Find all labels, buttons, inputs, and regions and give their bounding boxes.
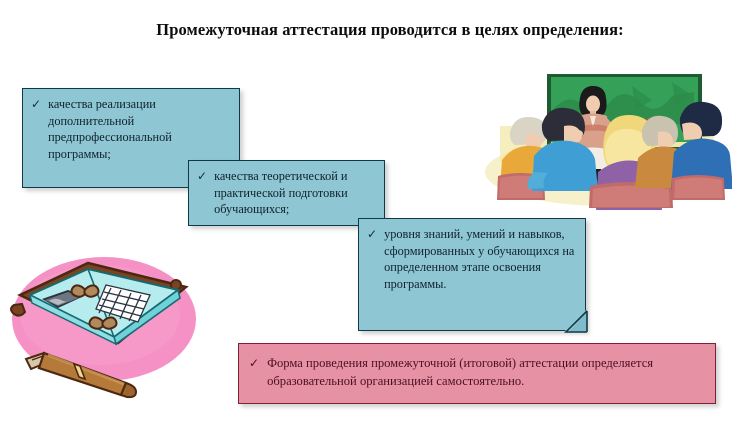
callout-box-2: ✓ качества теоретической и практической …	[188, 160, 385, 226]
classroom-svg	[482, 68, 732, 210]
chair-right	[671, 175, 725, 200]
callout-box-3: ✓ уровня знаний, умений и навыков, сформ…	[358, 218, 586, 331]
classroom-illustration	[482, 68, 732, 210]
check-icon: ✓	[367, 226, 377, 243]
check-icon: ✓	[249, 354, 259, 372]
check-icon: ✓	[197, 168, 207, 185]
notebook-illustration	[8, 243, 200, 405]
notebook-svg	[8, 243, 200, 405]
page-fold-corner-icon	[560, 305, 586, 331]
callout-3-text: уровня знаний, умений и навыков, сформир…	[384, 226, 577, 292]
callout-box-highlight: ✓ Форма проведения промежуточной (итогов…	[238, 343, 716, 404]
callout-1-text: качества реализации дополнительной предп…	[48, 96, 231, 162]
check-icon: ✓	[31, 96, 41, 113]
page-title: Промежуточная аттестация проводится в це…	[100, 20, 680, 40]
slide-canvas: Промежуточная аттестация проводится в це…	[0, 0, 750, 424]
callout-2-text: качества теоретической и практической по…	[214, 168, 376, 218]
highlight-text: Форма проведения промежуточной (итоговой…	[267, 354, 705, 390]
